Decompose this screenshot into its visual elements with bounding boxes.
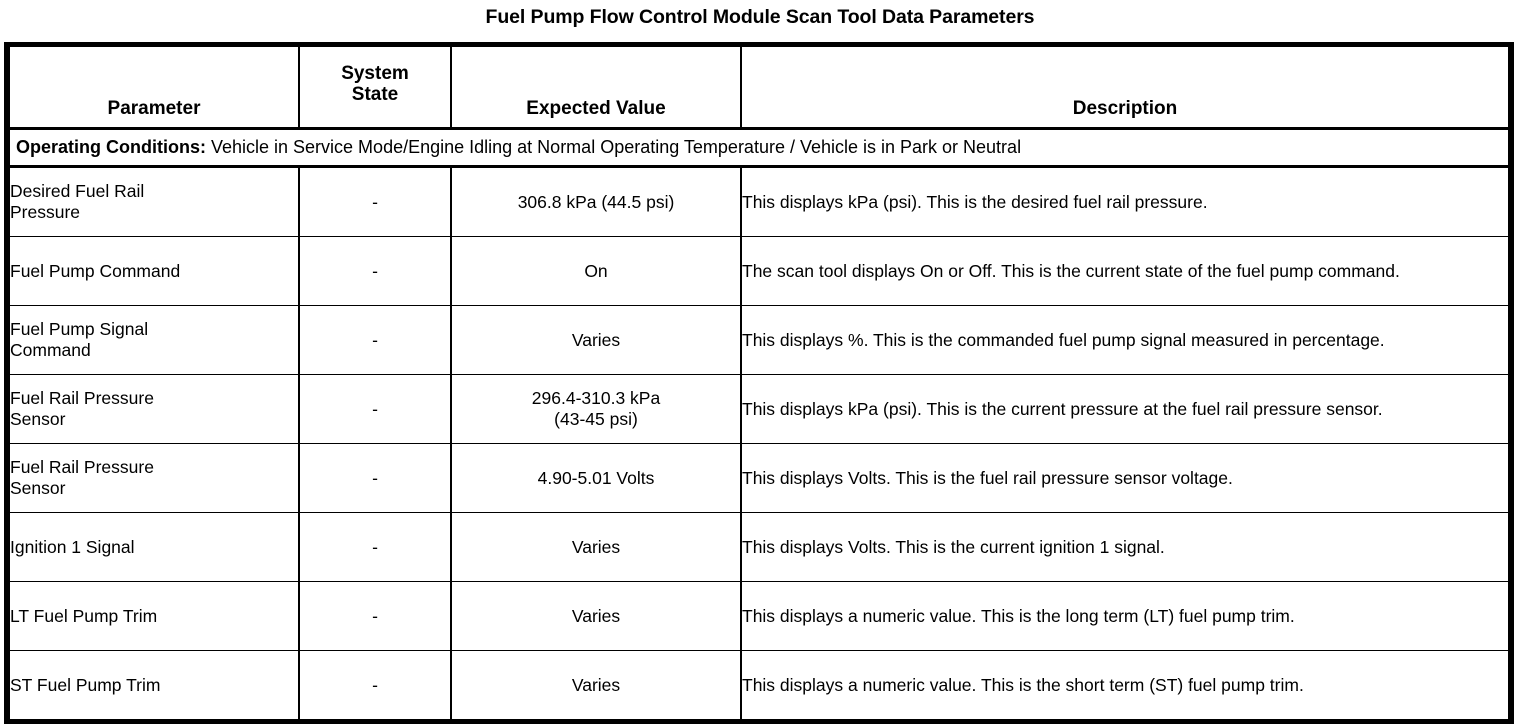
page-title: Fuel Pump Flow Control Module Scan Tool … bbox=[0, 0, 1520, 28]
cell-description: This displays Volts. This is the fuel ra… bbox=[741, 444, 1509, 513]
cell-system-state: - bbox=[299, 513, 451, 582]
operating-conditions-label: Operating Conditions: bbox=[16, 137, 206, 157]
cell-description: This displays Volts. This is the current… bbox=[741, 513, 1509, 582]
column-header-expected-value: Expected Value bbox=[451, 47, 741, 129]
cell-parameter: Ignition 1 Signal bbox=[9, 513, 299, 582]
cell-system-state: - bbox=[299, 582, 451, 651]
cell-expected-value: On bbox=[451, 237, 741, 306]
cell-expected-value: 296.4-310.3 kPa (43-45 psi) bbox=[451, 375, 741, 444]
cell-description: This displays %. This is the commanded f… bbox=[741, 306, 1509, 375]
column-header-parameter: Parameter bbox=[9, 47, 299, 129]
cell-system-state: - bbox=[299, 444, 451, 513]
table-body: Operating Conditions: Vehicle in Service… bbox=[9, 129, 1509, 720]
cell-expected-value: Varies bbox=[451, 306, 741, 375]
cell-parameter: Fuel Pump Signal Command bbox=[9, 306, 299, 375]
table-row: Fuel Rail Pressure Sensor - 296.4-310.3 … bbox=[9, 375, 1509, 444]
table-row: LT Fuel Pump Trim - Varies This displays… bbox=[9, 582, 1509, 651]
column-header-system-state-line2: State bbox=[352, 84, 398, 105]
cell-system-state: - bbox=[299, 237, 451, 306]
cell-parameter: ST Fuel Pump Trim bbox=[9, 651, 299, 720]
table-row: Fuel Pump Command - On The scan tool dis… bbox=[9, 237, 1509, 306]
cell-parameter: LT Fuel Pump Trim bbox=[9, 582, 299, 651]
cell-description: This displays a numeric value. This is t… bbox=[741, 651, 1509, 720]
column-header-description: Description bbox=[741, 47, 1509, 129]
operating-conditions-row: Operating Conditions: Vehicle in Service… bbox=[9, 129, 1509, 167]
scan-tool-data-table-container: Parameter System State Expected Value De… bbox=[4, 42, 1514, 724]
table-row: Fuel Rail Pressure Sensor - 4.90-5.01 Vo… bbox=[9, 444, 1509, 513]
table-row: Desired Fuel Rail Pressure - 306.8 kPa (… bbox=[9, 167, 1509, 237]
table-row: Ignition 1 Signal - Varies This displays… bbox=[9, 513, 1509, 582]
cell-system-state: - bbox=[299, 651, 451, 720]
cell-description: This displays kPa (psi). This is the cur… bbox=[741, 375, 1509, 444]
cell-description: The scan tool displays On or Off. This i… bbox=[741, 237, 1509, 306]
table-row: Fuel Pump Signal Command - Varies This d… bbox=[9, 306, 1509, 375]
table-row: ST Fuel Pump Trim - Varies This displays… bbox=[9, 651, 1509, 720]
cell-expected-value: Varies bbox=[451, 513, 741, 582]
operating-conditions-text: Vehicle in Service Mode/Engine Idling at… bbox=[206, 137, 1021, 157]
cell-system-state: - bbox=[299, 306, 451, 375]
table-header-row: Parameter System State Expected Value De… bbox=[9, 47, 1509, 129]
document-page: Fuel Pump Flow Control Module Scan Tool … bbox=[0, 0, 1520, 716]
column-header-system-state: System State bbox=[299, 47, 451, 129]
cell-expected-value: 306.8 kPa (44.5 psi) bbox=[451, 167, 741, 237]
cell-description: This displays a numeric value. This is t… bbox=[741, 582, 1509, 651]
scan-tool-data-table: Parameter System State Expected Value De… bbox=[8, 46, 1510, 720]
cell-expected-value: 4.90-5.01 Volts bbox=[451, 444, 741, 513]
cell-system-state: - bbox=[299, 375, 451, 444]
cell-description: This displays kPa (psi). This is the des… bbox=[741, 167, 1509, 237]
operating-conditions-cell: Operating Conditions: Vehicle in Service… bbox=[9, 129, 1509, 167]
cell-parameter: Desired Fuel Rail Pressure bbox=[9, 167, 299, 237]
cell-parameter: Fuel Rail Pressure Sensor bbox=[9, 375, 299, 444]
table-header: Parameter System State Expected Value De… bbox=[9, 47, 1509, 129]
cell-expected-value: Varies bbox=[451, 582, 741, 651]
column-header-system-state-line1: System bbox=[341, 63, 409, 84]
cell-parameter: Fuel Pump Command bbox=[9, 237, 299, 306]
cell-expected-value: Varies bbox=[451, 651, 741, 720]
cell-system-state: - bbox=[299, 167, 451, 237]
cell-parameter: Fuel Rail Pressure Sensor bbox=[9, 444, 299, 513]
